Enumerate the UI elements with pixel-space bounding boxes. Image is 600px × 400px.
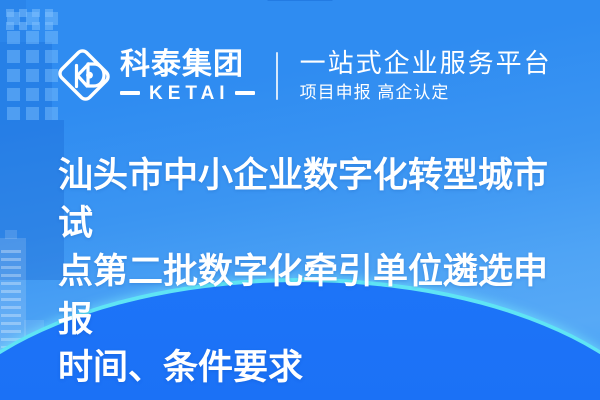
skyline-building-left-small [42, 332, 56, 368]
tower-right-roof [267, 0, 333, 1]
skyline-tower-left [0, 238, 26, 368]
skyline-building-left-mid [24, 320, 44, 368]
page-title-line-2: 点第二批数字化牵引单位遴选申报 [58, 248, 550, 344]
tagline-block: 一站式企业服务平台 项目申报 高企认定 [300, 49, 552, 104]
banner-header: 科泰集团 KETAI 一站式企业服务平台 项目申报 高企认定 [0, 34, 600, 118]
wordmark-dash-left [120, 91, 140, 95]
ketai-monogram-logo-icon [56, 48, 112, 104]
skyline-tower-right [0, 120, 64, 280]
promo-banner: 科泰集团 KETAI 一站式企业服务平台 项目申报 高企认定 汕头市中小企业数字… [0, 0, 600, 400]
brand-name-en-row: KETAI [120, 84, 255, 103]
header-divider [276, 52, 278, 100]
tower-left-cap [5, 230, 17, 239]
building-right-mid-windows [6, 9, 53, 30]
page-title: 汕头市中小企业数字化转型城市试 点第二批数字化牵引单位遴选申报 时间、条件要求 [58, 152, 550, 392]
brand-logo-wordmark: 科泰集团 KETAI [120, 49, 255, 103]
page-title-line-1: 汕头市中小企业数字化转型城市试 [58, 152, 550, 248]
wordmark-dash-right [235, 91, 255, 95]
page-title-line-3: 时间、条件要求 [58, 344, 550, 392]
brand-name-en: KETAI [149, 84, 230, 103]
brand-logo[interactable]: 科泰集团 KETAI [56, 48, 255, 104]
tower-left-windows [1, 250, 21, 348]
tagline-primary: 一站式企业服务平台 [300, 49, 552, 78]
brand-name-cn: 科泰集团 [120, 49, 255, 81]
tagline-secondary: 项目申报 高企认定 [300, 83, 552, 103]
